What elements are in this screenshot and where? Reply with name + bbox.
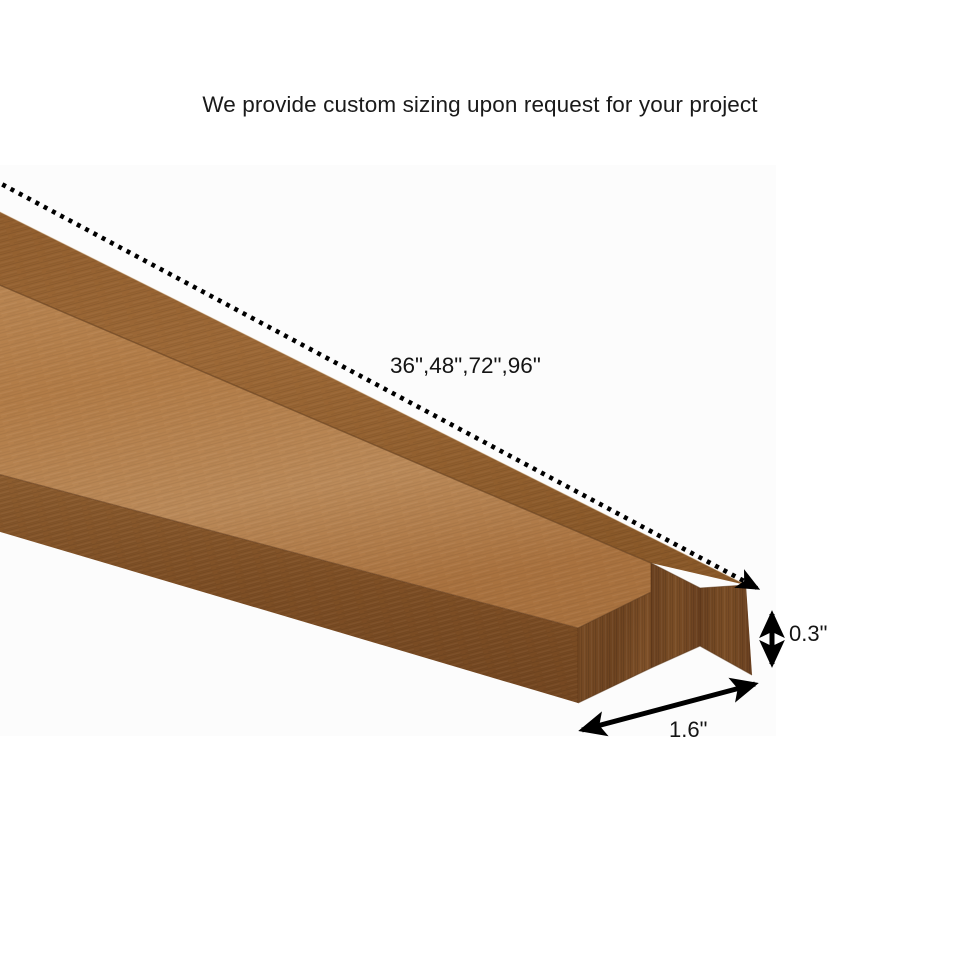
width-dimension-label: 1.6" (669, 717, 707, 743)
length-dimension-label: 36",48",72",96" (390, 353, 541, 379)
page-caption: We provide custom sizing upon request fo… (0, 92, 960, 118)
diagram-stage (0, 0, 960, 960)
thickness-dimension-label: 0.3" (789, 621, 827, 647)
product-dimension-diagram (0, 0, 960, 960)
